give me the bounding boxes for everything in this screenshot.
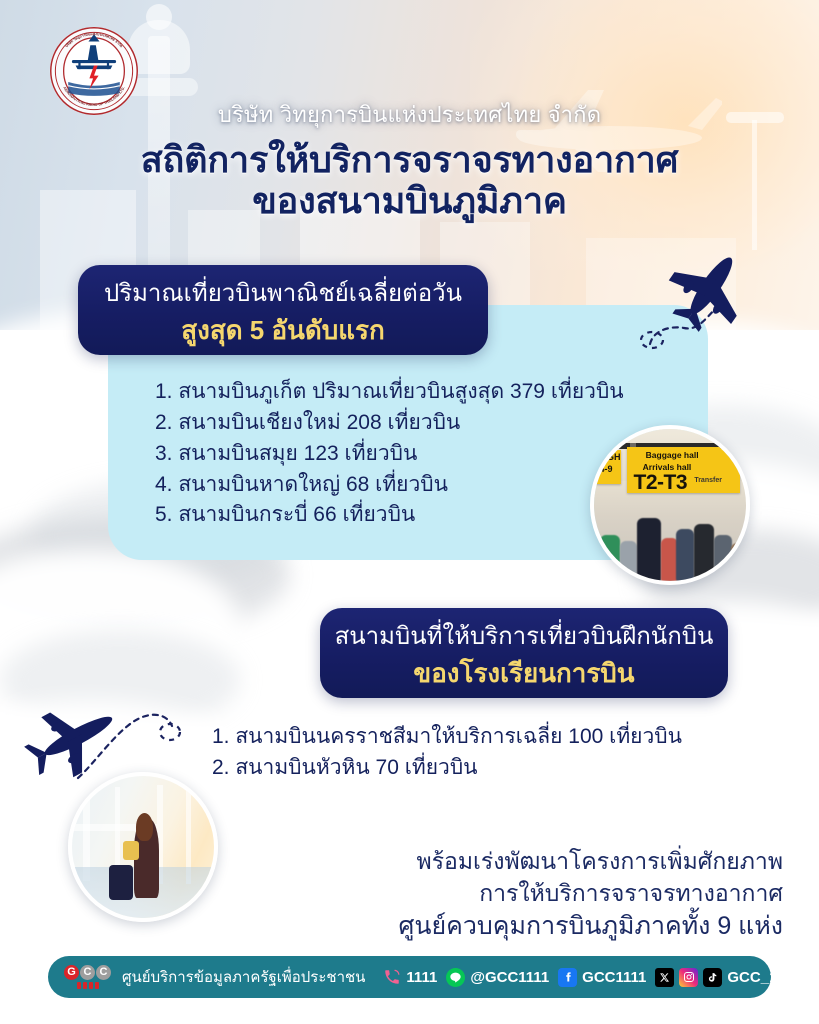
page-title: สถิติการให้บริการจราจรทางอากาศ ของสนามบิ… [0,140,819,221]
gcc-letter-g: G [64,965,79,980]
phone-icon [383,968,401,986]
list-item-number: 5. [155,500,173,531]
footer-contact-bar: G C C ศูนย์บริการข้อมูลภาครัฐเพื่อประชาช… [48,956,771,998]
list-item: 2. สนามบินเชียงใหม่ 208 เที่ยวบิน [155,408,605,439]
footer-phone[interactable]: 1111 [383,968,437,986]
page-title-line1: สถิติการให้บริการจราจรทางอากาศ [141,139,678,180]
section1-heading-accent: สูงสุด 5 อันดับแรก [78,306,488,343]
closing-statement: พร้อมเร่งพัฒนาโครงการเพิ่มศักยภาพ การให้… [0,845,819,944]
infographic-poster: บริษัท วิทยุการบินแห่งประเทศไทย จำกัด AE… [0,0,819,1024]
section1-heading-primary: ปริมาณเที่ยวบินพาณิชย์เฉลี่ยต่อวัน [78,265,488,306]
airplane-icon-right [640,232,790,352]
footer-social-handle: GCC_1111 [727,969,800,986]
footer-facebook-name: GCC1111 [582,969,646,986]
control-tower-cap [146,4,172,30]
list-item-number: 1. [212,722,230,753]
footer-line[interactable]: @GCC1111 [446,968,549,987]
gcc-logo: G C C [64,965,111,989]
sign-text-baggage-hall: Baggage hall [646,451,699,460]
list-item-label: สนามบินหาดใหญ่ 68 เที่ยวบิน [178,473,448,496]
section1-list: 1. สนามบินภูเก็ต ปริมาณเที่ยวบินสูงสุด 3… [155,377,605,531]
facebook-icon [558,968,577,987]
sign-text-t4-9: T4-9 [594,465,613,474]
closing-line-1: พร้อมเร่งพัฒนาโครงการเพิ่มศักยภาพ [0,845,783,877]
list-item: 2. สนามบินหัวหิน 70 เที่ยวบิน [212,753,732,784]
list-item-number: 2. [212,753,230,784]
list-item-label: สนามบินภูเก็ต ปริมาณเที่ยวบินสูงสุด 379 … [178,380,623,403]
airport-terminal-photo: EFGH T4-9 Baggage hall Arrivals hall T2-… [590,425,750,585]
list-item-number: 4. [155,470,173,501]
line-icon [446,968,465,987]
sign-text-gate-t2-t3: T2-T3 [634,472,688,493]
gcc-letter-c2: C [96,965,111,980]
footer-phone-number: 1111 [406,969,437,986]
list-item-label: สนามบินนครราชสีมาให้บริการเฉลี่ย 100 เที… [235,725,682,748]
list-item: 5. สนามบินกระบี่ 66 เที่ยวบิน [155,500,605,531]
page-title-line2: ของสนามบินภูมิภาค [0,181,819,222]
list-item: 4. สนามบินหาดใหญ่ 68 เที่ยวบิน [155,470,605,501]
footer-social-group[interactable]: GCC_1111 [655,968,800,987]
section2-heading-primary: สนามบินที่ให้บริการเที่ยวบินฝึกนักบิน [320,608,728,649]
section2-list: 1. สนามบินนครราชสีมาให้บริการเฉลี่ย 100 … [212,722,732,784]
terminal-crowd [594,502,746,581]
footer-service-label: ศูนย์บริการข้อมูลภาครัฐเพื่อประชาชน [122,965,365,989]
list-item-label: สนามบินเชียงใหม่ 208 เที่ยวบิน [178,411,460,434]
section2-heading-accent: ของโรงเรียนการบิน [320,649,728,686]
closing-line-2: การให้บริการจราจรทางอากาศ [0,877,783,909]
list-item-number: 2. [155,408,173,439]
list-item: 1. สนามบินนครราชสีมาให้บริการเฉลี่ย 100 … [212,722,732,753]
list-item-number: 3. [155,439,173,470]
list-item-label: สนามบินหัวหิน 70 เที่ยวบิน [235,756,477,779]
instagram-icon [679,968,698,987]
section2-heading-chip: สนามบินที่ให้บริการเที่ยวบินฝึกนักบิน ขอ… [320,608,728,698]
footer-line-id: @GCC1111 [470,969,549,986]
gcc-letter-c1: C [80,965,95,980]
x-twitter-icon [655,968,674,987]
organization-name: บริษัท วิทยุการบินแห่งประเทศไทย จำกัด [0,97,819,132]
list-item-number: 1. [155,377,173,408]
tiktok-icon [703,968,722,987]
footer-facebook[interactable]: GCC1111 [558,968,646,987]
list-item-label: สนามบินกระบี่ 66 เที่ยวบิน [178,503,415,526]
list-item: 1. สนามบินภูเก็ต ปริมาณเที่ยวบินสูงสุด 3… [155,377,605,408]
sign-text-efgh: EFGH [596,453,621,462]
section1-heading-chip: ปริมาณเที่ยวบินพาณิชย์เฉลี่ยต่อวัน สูงสุ… [78,265,488,355]
closing-line-3: ศูนย์ควบคุมการบินภูมิภาคทั้ง 9 แห่ง [0,909,783,944]
gcc-underbars [77,982,99,989]
list-item-label: สนามบินสมุย 123 เที่ยวบิน [178,442,417,465]
list-item: 3. สนามบินสมุย 123 เที่ยวบิน [155,439,605,470]
sign-text-transfer: Transfer [694,477,722,484]
